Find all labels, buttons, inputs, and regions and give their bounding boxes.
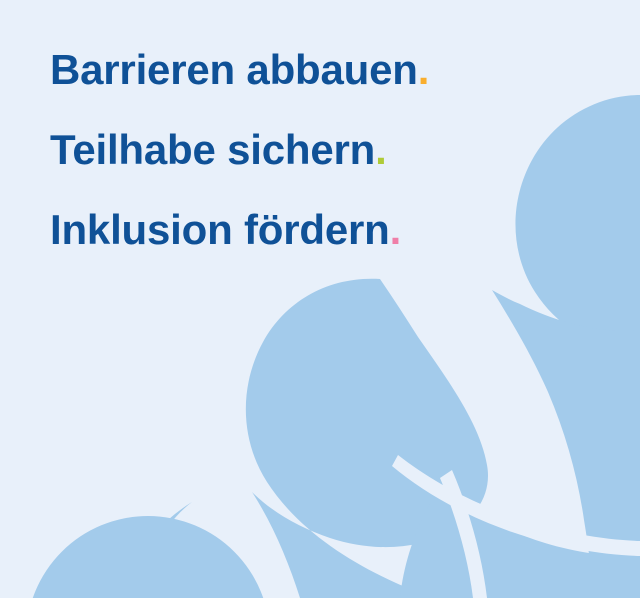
headline-line-2-terminator-dot: .	[375, 126, 386, 173]
headline-line-1-terminator-dot: .	[418, 46, 429, 93]
banner: Barrieren abbauen. Teilhabe sichern. Ink…	[0, 0, 640, 598]
headline-line-2-text: Teilhabe sichern	[50, 126, 375, 173]
headline-line-3-terminator-dot: .	[390, 206, 401, 253]
headline-line-3-text: Inklusion fördern	[50, 206, 390, 253]
headline: Barrieren abbauen. Teilhabe sichern. Ink…	[50, 30, 610, 270]
headline-line-2: Teilhabe sichern.	[50, 110, 610, 190]
headline-line-1: Barrieren abbauen.	[50, 30, 610, 110]
headline-line-3: Inklusion fördern.	[50, 190, 610, 270]
headline-line-1-text: Barrieren abbauen	[50, 46, 418, 93]
